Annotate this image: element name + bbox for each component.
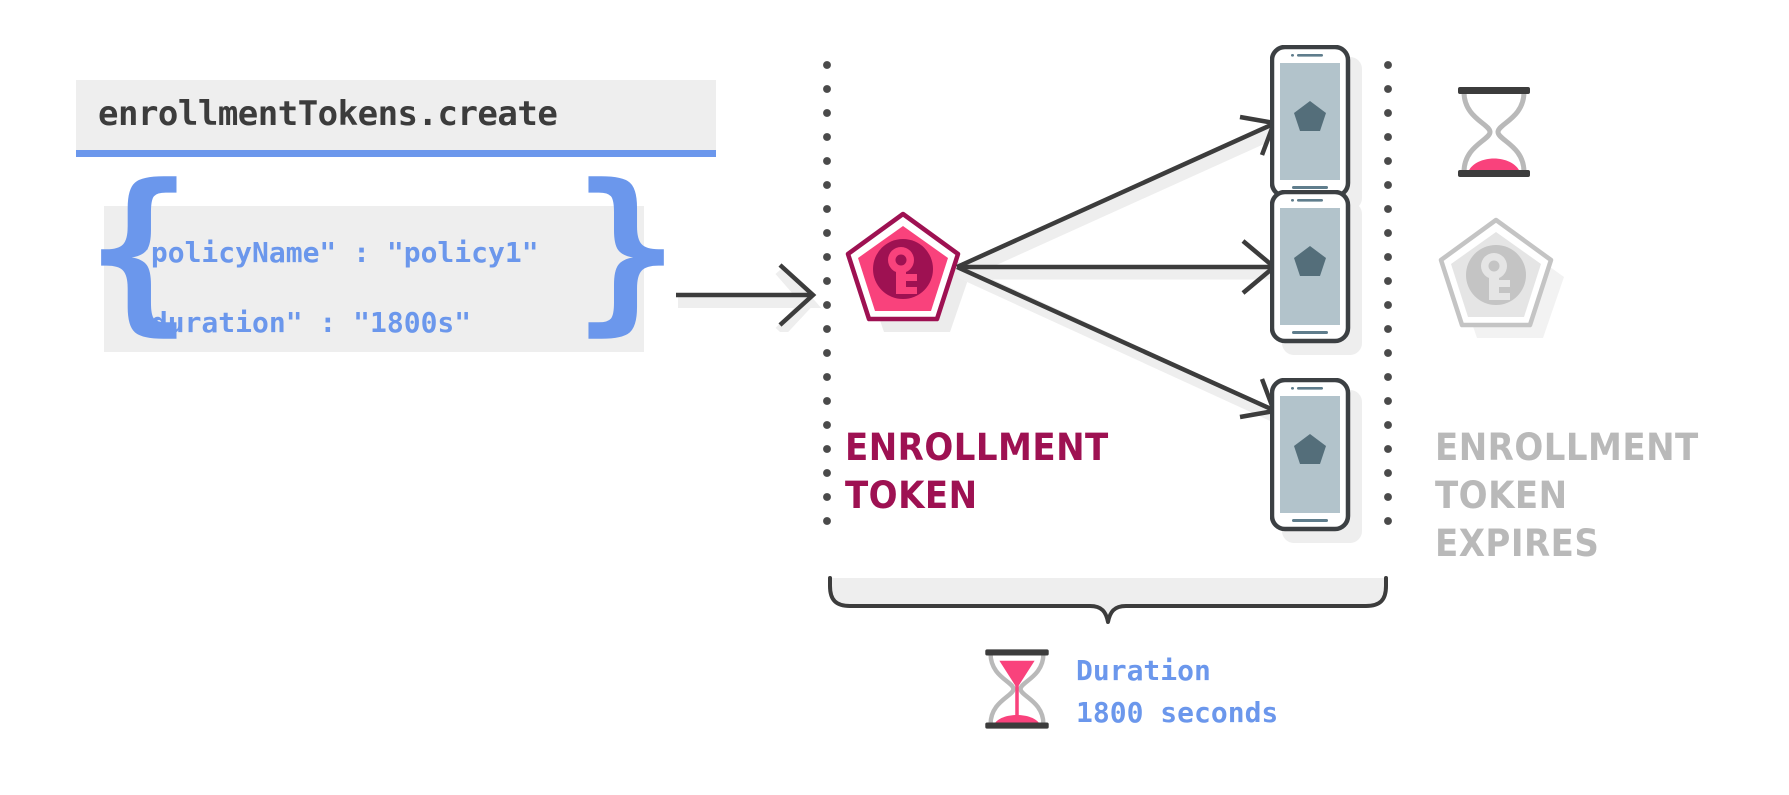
expired-token-label: ENROLLMENT TOKEN EXPIRES — [1435, 424, 1765, 568]
expired-token-icon — [1438, 216, 1566, 343]
payload-close-brace: } — [573, 186, 679, 314]
duration-text: Duration 1800 seconds — [1076, 650, 1278, 734]
device-phone-1 — [1270, 45, 1350, 201]
expired-token-label-line1: ENROLLMENT — [1435, 424, 1739, 472]
enrollment-token-icon — [845, 210, 973, 332]
api-method-block: enrollmentTokens.create — [76, 80, 716, 157]
request-payload-block: { } "policyName" : "policy1" "duration" … — [86, 200, 656, 352]
device-phone-2 — [1270, 190, 1350, 346]
token-distribution-arrows — [955, 95, 1315, 440]
duration-annotation: Duration 1800 seconds — [980, 643, 1278, 740]
hourglass-running-icon — [980, 643, 1054, 740]
payload-line-policyname: "policyName" : "policy1" — [134, 218, 584, 288]
expired-token-label-line2: TOKEN — [1435, 472, 1739, 520]
lifespan-boundary-end — [1383, 60, 1393, 538]
api-method-bar: enrollmentTokens.create — [76, 80, 716, 150]
api-method-name: enrollmentTokens.create — [98, 94, 694, 134]
duration-label: Duration — [1076, 650, 1278, 692]
device-phone-3 — [1270, 378, 1350, 534]
payload-lines: "policyName" : "policy1" "duration" : "1… — [134, 218, 584, 358]
request-flow-arrow — [672, 262, 832, 337]
enrollment-token-label-line2: TOKEN — [845, 472, 1121, 520]
diagram-canvas: enrollmentTokens.create { } "policyName"… — [0, 0, 1789, 795]
hourglass-end-icon — [1452, 84, 1536, 185]
duration-value: 1800 seconds — [1076, 692, 1278, 734]
payload-line-duration: "duration" : "1800s" — [134, 288, 584, 358]
lifespan-boundary-start — [822, 60, 832, 538]
duration-brace — [828, 576, 1388, 637]
expired-token-label-line3: EXPIRES — [1435, 520, 1739, 568]
